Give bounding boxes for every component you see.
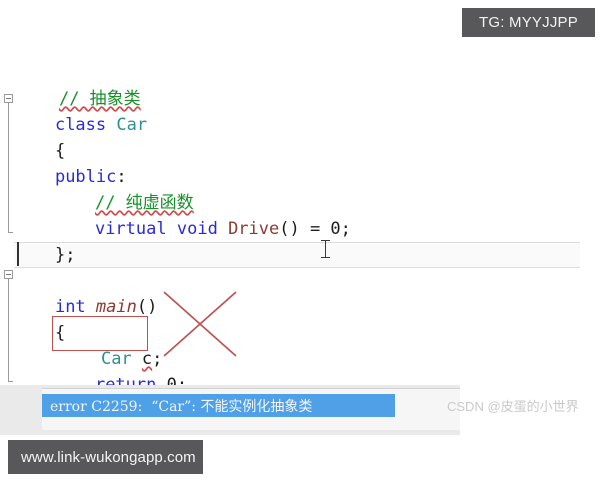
code-token: virtual — [95, 219, 167, 239]
code-token: void — [177, 219, 218, 239]
code-token: main — [96, 297, 137, 317]
error-message-selected[interactable]: error C2259: “Car”: 不能实例化抽象类 — [42, 394, 395, 417]
fold-bar-class-end — [8, 232, 13, 233]
code-token — [167, 219, 177, 239]
code-token — [86, 297, 96, 317]
telegram-watermark: TG: MYYJJPP — [462, 8, 595, 37]
code-token — [218, 219, 228, 239]
code-token: }; — [55, 245, 75, 265]
fold-bar-main-end — [8, 381, 13, 382]
code-token: () = 0; — [279, 219, 351, 239]
code-token: () — [137, 297, 157, 317]
fold-bar-class — [8, 103, 9, 233]
code-line[interactable]: virtual void Drive() = 0; — [54, 190, 351, 268]
code-editor[interactable]: // 抽象类 class Car { public: // 纯虚函数 virtu… — [0, 46, 600, 391]
fold-bar-main — [8, 279, 9, 382]
url-banner: www.link-wukongapp.com — [8, 440, 203, 474]
csdn-watermark: CSDN @皮蛋的小世界 — [447, 396, 579, 415]
code-token: Car — [116, 115, 147, 135]
code-token — [106, 115, 116, 135]
annotation-cross-icon — [160, 288, 240, 360]
annotation-highlight-box — [52, 316, 148, 351]
fold-toggle-main[interactable] — [4, 270, 13, 279]
fold-toggle-class[interactable] — [4, 94, 13, 103]
code-token: Drive — [228, 219, 279, 239]
